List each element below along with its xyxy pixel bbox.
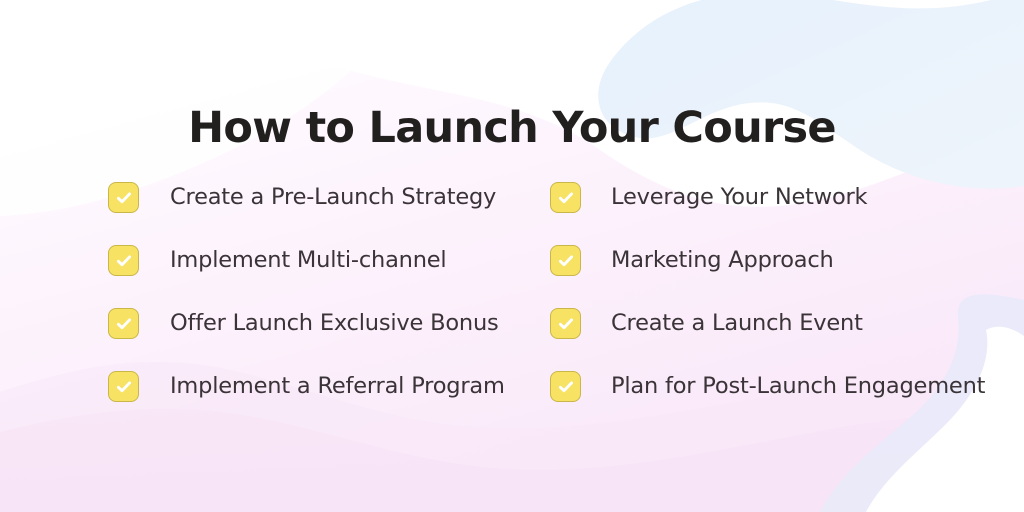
list-item-label: Offer Launch Exclusive Bonus xyxy=(170,307,578,340)
checkbox-checked[interactable] xyxy=(108,245,139,276)
checkmark-icon xyxy=(557,378,575,396)
checkmark-icon xyxy=(115,252,133,270)
list-item[interactable]: Leverage Your Network xyxy=(550,181,1020,244)
checkmark-icon xyxy=(557,252,575,270)
list-item[interactable]: Create a Pre-Launch Strategy xyxy=(108,181,578,244)
list-item-label: Plan for Post-Launch Engagement xyxy=(611,370,1020,403)
checkmark-icon xyxy=(557,189,575,207)
checkbox-checked[interactable] xyxy=(550,308,581,339)
checkmark-icon xyxy=(115,378,133,396)
checkbox-checked[interactable] xyxy=(108,308,139,339)
slide-canvas: How to Launch Your Course Create a Pre-L… xyxy=(0,0,1024,512)
slide-content: How to Launch Your Course Create a Pre-L… xyxy=(0,0,1024,512)
right-column: Leverage Your Network Marketing Approach xyxy=(550,181,1020,433)
list-item-label: Implement a Referral Program xyxy=(170,370,578,403)
list-item[interactable]: Plan for Post-Launch Engagement xyxy=(550,370,1020,433)
list-item-label: Leverage Your Network xyxy=(611,181,1020,214)
checkbox-checked[interactable] xyxy=(108,371,139,402)
list-item[interactable]: Offer Launch Exclusive Bonus xyxy=(108,307,578,370)
list-item[interactable]: Implement a Referral Program xyxy=(108,370,578,433)
checkmark-icon xyxy=(557,315,575,333)
list-item-label: Marketing Approach xyxy=(611,244,1020,277)
checkbox-checked[interactable] xyxy=(550,245,581,276)
checkmark-icon xyxy=(115,189,133,207)
checklist: Create a Pre-Launch Strategy Implement M… xyxy=(0,181,1024,421)
left-column: Create a Pre-Launch Strategy Implement M… xyxy=(108,181,578,433)
list-item[interactable]: Create a Launch Event xyxy=(550,307,1020,370)
list-item-label: Implement Multi-channel xyxy=(170,244,578,277)
checkbox-checked[interactable] xyxy=(108,182,139,213)
list-item-label: Create a Pre-Launch Strategy xyxy=(170,181,578,214)
checkbox-checked[interactable] xyxy=(550,371,581,402)
list-item[interactable]: Implement Multi-channel xyxy=(108,244,578,307)
list-item[interactable]: Marketing Approach xyxy=(550,244,1020,307)
checkmark-icon xyxy=(115,315,133,333)
list-item-label: Create a Launch Event xyxy=(611,307,1020,340)
page-title: How to Launch Your Course xyxy=(0,107,1024,150)
checkbox-checked[interactable] xyxy=(550,182,581,213)
